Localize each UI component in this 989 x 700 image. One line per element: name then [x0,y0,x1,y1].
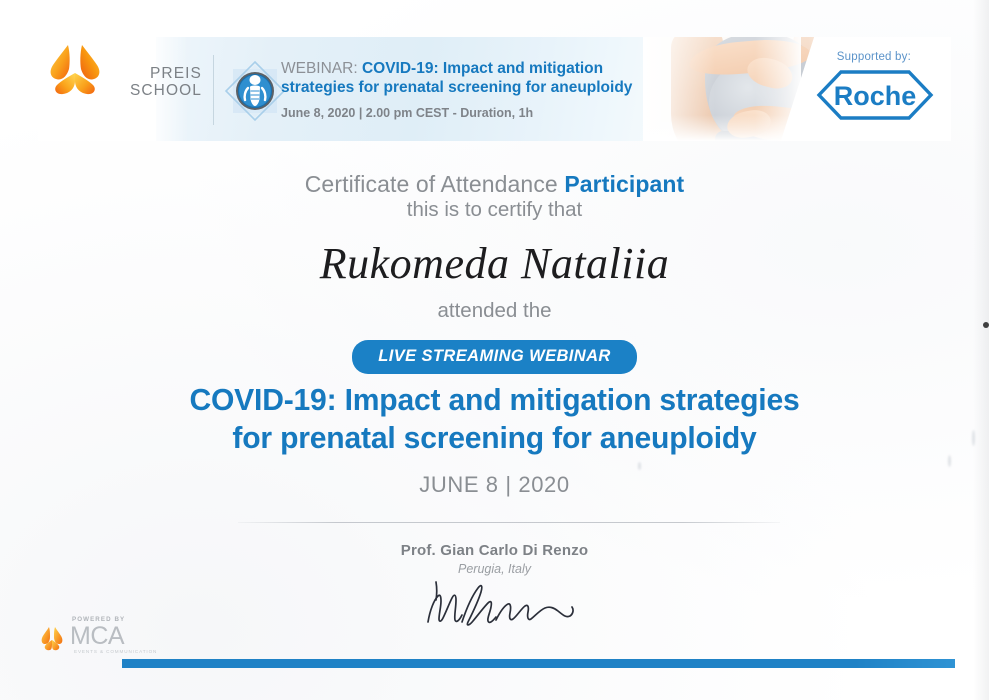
handwritten-signature-icon [418,576,598,640]
mca-logo: POWERED BY MCA EVENTS & COMMUNICATION [38,616,146,656]
header-banner: PREIS SCHOOL WEBINAR: COVID-19: Impact a… [38,37,951,141]
roche-hexagon-logo-icon: Roche [816,69,934,121]
event-date: JUNE 8 | 2020 [0,472,989,498]
certify-line: this is to certify that [0,198,989,222]
signatory-name: Prof. Gian Carlo Di Renzo [0,542,989,559]
scan-artifact-dot [983,322,989,328]
live-streaming-badge-wrap: LIVE STREAMING WEBINAR [0,340,989,374]
certificate-heading-plain: Certificate of Attendance [305,171,565,197]
webinar-schedule: June 8, 2020 | 2.00 pm CEST - Duration, … [281,106,651,120]
preis-fetus-emblem-icon [224,60,286,122]
mca-wordmark: MCA [70,624,124,649]
footer-accent-bar [122,659,955,668]
webinar-title-line2: strategies for prenatal screening for an… [281,78,651,97]
event-title: COVID-19: Impact and mitigation strategi… [15,381,974,457]
event-title-line2: for prenatal screening for aneuploidy [15,419,974,457]
event-title-line1: COVID-19: Impact and mitigation strategi… [15,381,974,419]
scan-artifact-smudge [948,455,951,467]
webinar-prefix-label: WEBINAR: [281,60,358,77]
certificate-heading: Certificate of Attendance Participant [0,171,989,198]
scan-artifact-smudge [638,462,641,470]
recipient-name: Rukomeda Nataliia [0,238,989,289]
status-badge: LIVE STREAMING WEBINAR [352,340,636,374]
webinar-title-part1: COVID-19: Impact and mitigation [362,60,603,77]
preis-wordmark: PREIS SCHOOL [124,65,202,99]
signature-divider [238,522,780,523]
preis-wordmark-line1: PREIS [124,65,202,82]
mca-tagline: EVENTS & COMMUNICATION [74,649,157,654]
preis-wordmark-line2: SCHOOL [124,82,202,99]
webinar-title-line1: WEBINAR: COVID-19: Impact and mitigation [281,59,651,78]
preis-flame-logo-icon [44,37,106,103]
signatory-location: Perugia, Italy [0,562,989,576]
attended-line: attended the [0,299,989,323]
banner-divider [213,55,214,125]
certificate-heading-accent: Participant [564,171,684,197]
roche-wordmark: Roche [834,81,917,111]
mca-flame-logo-icon [38,625,66,653]
supported-by-label: Supported by: [837,51,911,63]
scan-artifact-smudge [972,430,975,446]
banner-webinar-text: WEBINAR: COVID-19: Impact and mitigation… [281,59,651,120]
